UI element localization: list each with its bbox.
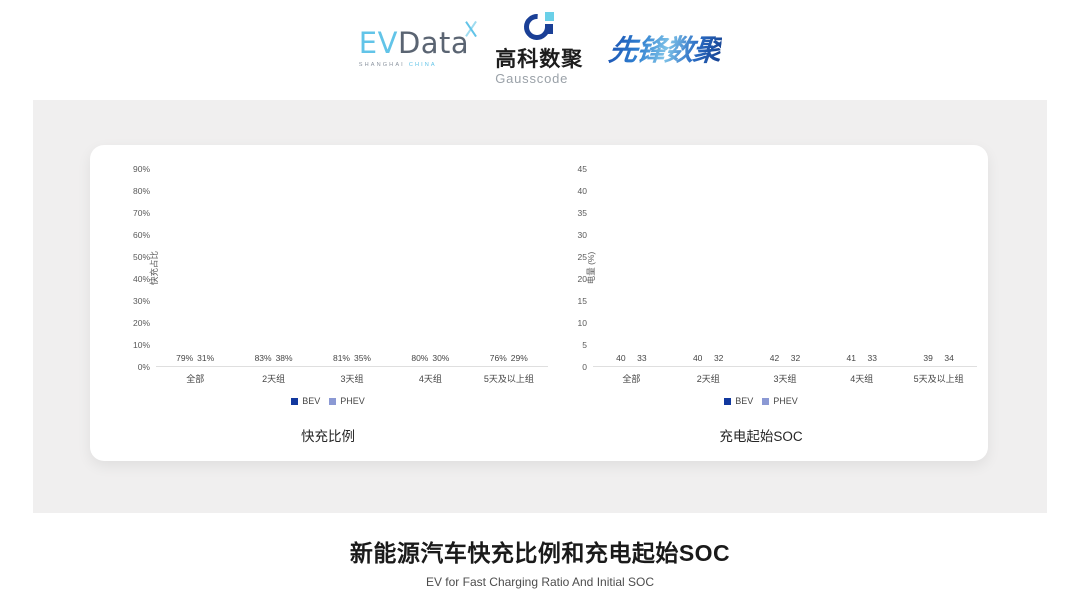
x-tick-label: 3天组 (313, 372, 391, 385)
bar-value-label: 35% (354, 353, 371, 363)
bar-value-label: 32 (714, 353, 723, 363)
x-cross-icon (462, 20, 480, 38)
chart-fast-charging-ratio: 快充占比 0%10%20%30%40%50%60%70%80%90% 79%31… (108, 157, 548, 457)
bar-value-label: 40 (616, 353, 625, 363)
x-tick-label: 全部 (593, 372, 670, 385)
y-tick-label: 60% (133, 230, 150, 240)
y-tick-label: 10 (578, 318, 587, 328)
y-tick-label: 40% (133, 274, 150, 284)
plot-area-left: 快充占比 0%10%20%30%40%50%60%70%80%90% 79%31… (156, 169, 548, 367)
chart-caption-left: 快充比例 (108, 425, 548, 445)
legend-item-phev[interactable]: PHEV (329, 396, 365, 406)
legend-swatch (291, 398, 298, 405)
page-title: 新能源汽车快充比例和充电起始SOC (0, 534, 1080, 568)
y-tick-label: 0 (582, 362, 587, 372)
y-tick-label: 0% (138, 362, 150, 372)
y-tick-label: 50% (133, 252, 150, 262)
evdata-tagline-country: CHINA (409, 62, 437, 68)
logo-xianfeng: 先锋数聚 (609, 27, 721, 69)
xianfeng-wordmark: 先锋数聚 (607, 27, 723, 69)
logo-strip: EVData SHANGHAI CHINA 高科数聚 Gausscode 先锋数… (0, 0, 1080, 96)
x-axis-line-right (593, 366, 977, 367)
x-tick-label: 4天组 (823, 372, 900, 385)
y-tick-label: 25 (578, 252, 587, 262)
bar-value-label: 31% (197, 353, 214, 363)
logo-evdata: EVData SHANGHAI CHINA (359, 29, 469, 68)
x-axis-line-left (156, 366, 548, 367)
y-tick-label: 20% (133, 318, 150, 328)
x-tick-label: 全部 (156, 372, 234, 385)
y-tick-label: 10% (133, 340, 150, 350)
legend-label: BEV (735, 396, 753, 406)
bar-value-label: 79% (176, 353, 193, 363)
legend-left: BEVPHEV (108, 396, 548, 406)
x-axis-labels-left: 全部2天组3天组4天组5天及以上组 (156, 372, 548, 385)
bar-value-label: 39 (923, 353, 932, 363)
bar-value-label: 30% (432, 353, 449, 363)
bar-value-label: 33 (868, 353, 877, 363)
y-tick-label: 30% (133, 296, 150, 306)
legend-label: PHEV (340, 396, 365, 406)
x-tick-label: 5天及以上组 (900, 372, 977, 385)
bar-groups-left: 79%31%83%38%81%35%80%30%76%29% (156, 169, 548, 366)
gausscode-cn-text: 高科数聚 (495, 49, 583, 70)
evdata-tagline-city: SHANGHAI (359, 62, 405, 68)
x-tick-label: 4天组 (391, 372, 469, 385)
bar-value-label: 38% (276, 353, 293, 363)
plot-area-right: 电量 (%) 051015202530354045 40334032423241… (593, 169, 977, 367)
bar-value-label: 40 (693, 353, 702, 363)
bar-value-label: 29% (511, 353, 528, 363)
g-circle-icon (524, 12, 554, 42)
evdata-data-text: Data (398, 29, 469, 58)
x-tick-label: 3天组 (747, 372, 824, 385)
gausscode-en-text: Gausscode (495, 72, 583, 85)
page-subtitle: EV for Fast Charging Ratio And Initial S… (0, 575, 1080, 589)
bar-value-label: 34 (944, 353, 953, 363)
legend-label: PHEV (773, 396, 798, 406)
bar-value-label: 76% (490, 353, 507, 363)
bar-value-label: 41 (847, 353, 856, 363)
chart-caption-right: 充电起始SOC (545, 425, 977, 445)
y-tick-label: 20 (578, 274, 587, 284)
legend-item-bev[interactable]: BEV (724, 396, 753, 406)
chart-initial-soc: 电量 (%) 051015202530354045 40334032423241… (545, 157, 977, 457)
y-tick-label: 80% (133, 186, 150, 196)
x-tick-label: 5天及以上组 (470, 372, 548, 385)
legend-item-bev[interactable]: BEV (291, 396, 320, 406)
bar-value-label: 32 (791, 353, 800, 363)
x-tick-label: 2天组 (670, 372, 747, 385)
footer-title-block: 新能源汽车快充比例和充电起始SOC EV for Fast Charging R… (0, 534, 1080, 589)
legend-label: BEV (302, 396, 320, 406)
bar-value-label: 42 (770, 353, 779, 363)
bar-value-label: 81% (333, 353, 350, 363)
y-tick-label: 35 (578, 208, 587, 218)
legend-swatch (724, 398, 731, 405)
legend-swatch (762, 398, 769, 405)
x-tick-label: 2天组 (234, 372, 312, 385)
legend-item-phev[interactable]: PHEV (762, 396, 798, 406)
evdata-ev-text: EV (359, 29, 398, 58)
bar-value-label: 33 (637, 353, 646, 363)
y-tick-label: 30 (578, 230, 587, 240)
evdata-wordmark: EVData (359, 29, 469, 58)
y-tick-label: 40 (578, 186, 587, 196)
bar-value-label: 80% (411, 353, 428, 363)
y-tick-label: 5 (582, 340, 587, 350)
legend-right: BEVPHEV (545, 396, 977, 406)
evdata-tagline: SHANGHAI CHINA (359, 62, 469, 68)
y-tick-label: 45 (578, 164, 587, 174)
bar-groups-right: 40334032423241333934 (593, 169, 977, 366)
y-tick-label: 70% (133, 208, 150, 218)
legend-swatch (329, 398, 336, 405)
y-tick-label: 90% (133, 164, 150, 174)
logo-gausscode: 高科数聚 Gausscode (495, 12, 583, 85)
x-axis-labels-right: 全部2天组3天组4天组5天及以上组 (593, 372, 977, 385)
bar-value-label: 83% (255, 353, 272, 363)
charts-card: 快充占比 0%10%20%30%40%50%60%70%80%90% 79%31… (90, 145, 988, 461)
y-tick-label: 15 (578, 296, 587, 306)
